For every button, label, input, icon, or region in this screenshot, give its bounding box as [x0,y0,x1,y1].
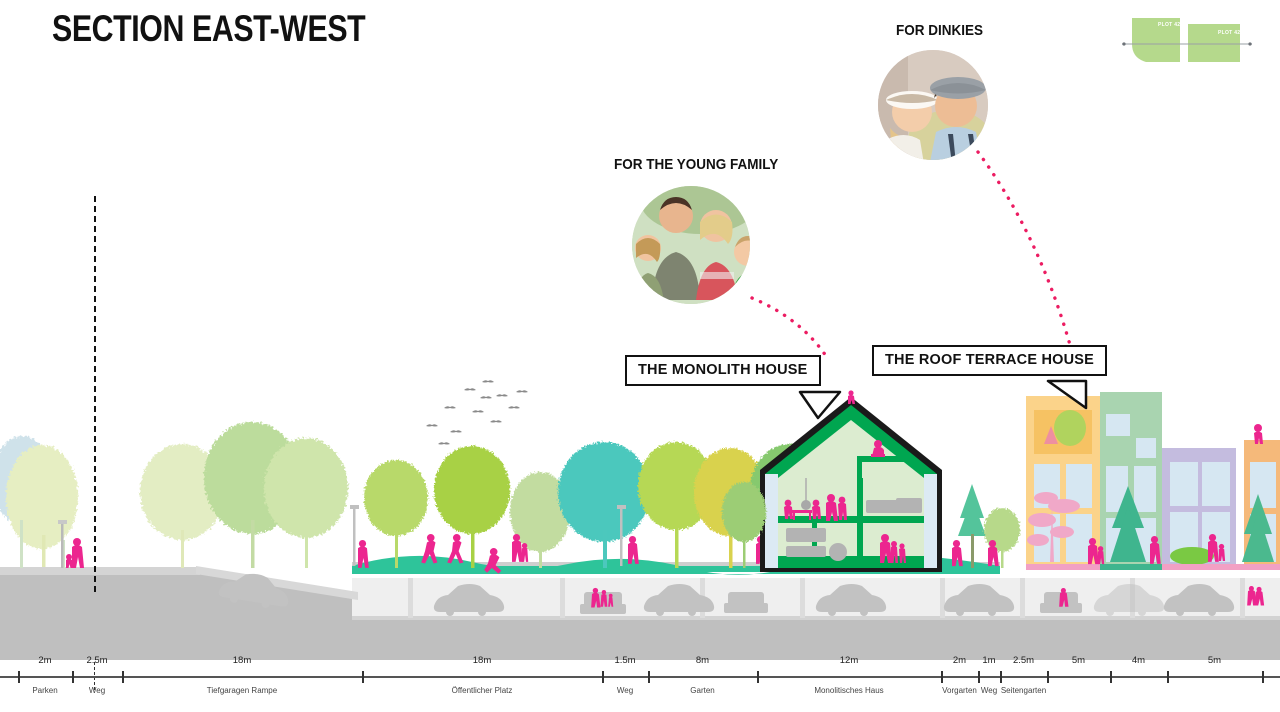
dimension-size-label: 1m [982,655,995,666]
section-drawing-canvas: SECTION EAST-WEST FOR THE YOUNG FAMILY F… [0,0,1280,712]
dimension-tick [602,671,604,683]
dimension-zone-label: Öffentlicher Platz [452,686,513,695]
trees-ramp-zone [140,422,348,568]
dimension-size-label: 4m [1132,655,1145,666]
key-map-labels: PLOT 42 PLOT 42 [1132,12,1272,64]
dimension-size-label: 2m [953,655,966,666]
dimension-tick [18,671,20,683]
monolith-house [760,390,942,572]
dimension-size-label: 18m [473,655,491,666]
persona-connectors [752,152,1072,356]
keymap-plot-label-2: PLOT 42 [1218,30,1240,36]
dimension-size-label: 2m [38,655,51,666]
dimension-tick [1110,671,1112,683]
dimension-zone-label: Weg [617,686,633,695]
pedestrian-left [66,538,84,568]
trees-left-verge [0,436,78,568]
photo-dinkies [878,50,992,170]
dimension-size-label: 5m [1072,655,1085,666]
dimension-axis: 2mParken2.5mWeg18mTiefgaragen Rampe18mÖf… [0,676,1280,678]
dimension-tick [362,671,364,683]
dimension-zone-label: Garten [690,686,714,695]
dimension-tick [1262,671,1264,683]
dimension-tick [1047,671,1049,683]
dimension-tick [122,671,124,683]
dimension-tick [757,671,759,683]
dimension-tick [648,671,650,683]
dimension-size-label: 2.5m [1013,655,1034,666]
dimension-size-label: 5m [1208,655,1221,666]
ground-terrain [0,563,1280,660]
dimension-size-label: 1.5m [614,655,635,666]
dimension-tick [941,671,943,683]
dimension-tick [978,671,980,683]
dimension-zone-label: Monolitisches Haus [814,686,883,695]
persona-label-dinkies: FOR DINKIES [896,22,983,39]
dimension-tick [1000,671,1002,683]
callout-roof-terrace-house[interactable]: THE ROOF TERRACE HOUSE [872,345,1107,376]
dimension-zone-label: Vorgarten [942,686,977,695]
dimension-tick [1167,671,1169,683]
dimension-tick [72,671,74,683]
dimension-zone-label: Weg [981,686,997,695]
keymap-plot-label-1: PLOT 42 [1158,22,1180,28]
bird-flock [426,380,528,452]
page-title: SECTION EAST-WEST [52,8,365,50]
dimension-zone-label: Tiefgaragen Rampe [207,686,277,695]
dimension-zone-label: Parken [32,686,57,695]
dimension-size-label: 2.5m [86,655,107,666]
dimension-zone-label: Seitengarten [1001,686,1046,695]
dimension-size-label: 8m [696,655,709,666]
dimension-zone-label: Weg [89,686,105,695]
persona-label-young-family: FOR THE YOUNG FAMILY [614,156,778,173]
photo-young-family [632,166,766,304]
dimension-size-label: 18m [233,655,251,666]
callout-monolith-house[interactable]: THE MONOLITH HOUSE [625,355,821,386]
dimension-size-label: 12m [840,655,858,666]
section-cut-line [94,196,96,592]
